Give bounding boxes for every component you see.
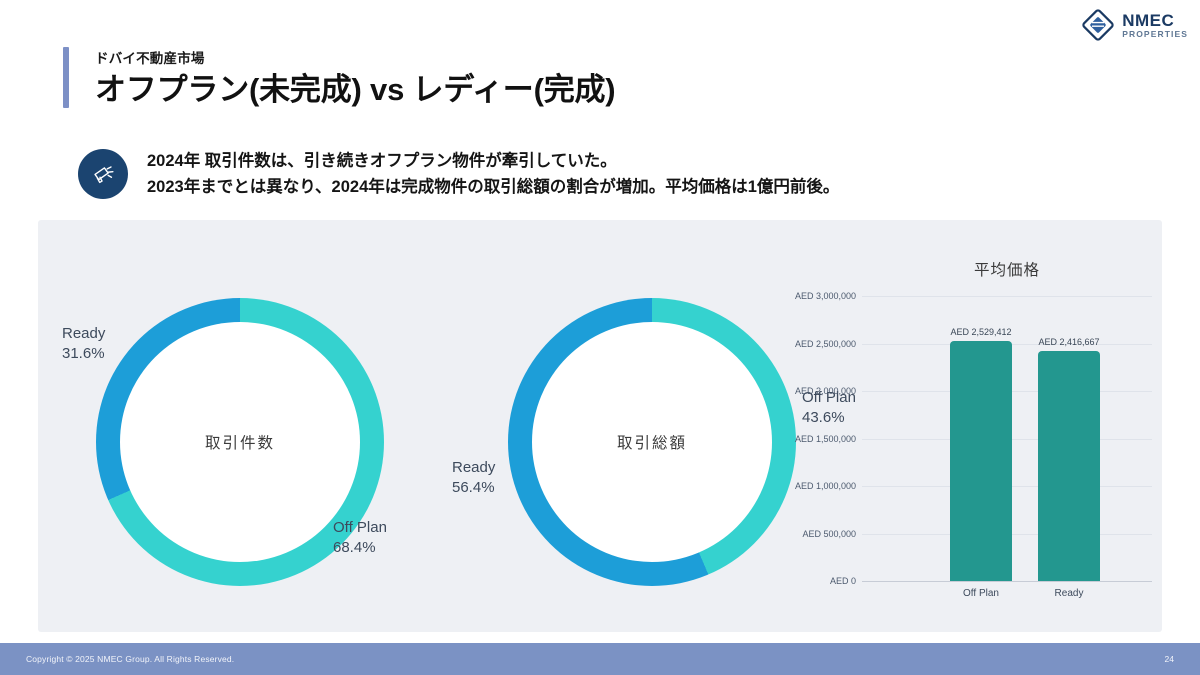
slice-name: Off Plan [333, 519, 387, 536]
header-text-group: ドバイ不動産市場 オフプラン(未完成) vs レディー(完成) [95, 47, 615, 108]
y-axis-tick-label: AED 0 [830, 576, 856, 586]
slice-value: 43.6% [802, 408, 856, 428]
y-axis-tick-label: AED 2,500,000 [795, 339, 856, 349]
donut-center: 取引件数 [120, 322, 360, 562]
donut-center-label: 取引総額 [617, 431, 687, 453]
summary-text: 2024年 取引件数は、引き続きオフプラン物件が牽引していた。 2023年までと… [147, 148, 839, 200]
page-number: 24 [1165, 654, 1174, 664]
slice-value: 31.6% [62, 344, 105, 364]
y-axis-tick-label: AED 3,000,000 [795, 291, 856, 301]
copyright-text: Copyright © 2025 NMEC Group. All Rights … [26, 654, 234, 664]
donut-center-label: 取引件数 [205, 431, 275, 453]
bar [1038, 351, 1100, 581]
x-axis-tick-label: Ready [1055, 588, 1084, 599]
logo-wordmark: NMEC PROPERTIES [1122, 12, 1188, 39]
y-axis-tick-label: AED 1,500,000 [795, 434, 856, 444]
slice-label-off-plan: Off Plan 68.4% [333, 518, 387, 557]
y-axis-tick-label: AED 2,000,000 [795, 386, 856, 396]
average-price-bar-chart: 平均価格 AED 0AED 500,000AED 1,000,000AED 1,… [862, 258, 1152, 608]
donut-ring: 取引総額 [508, 298, 796, 586]
slide-header: ドバイ不動産市場 オフプラン(未完成) vs レディー(完成) [63, 47, 615, 108]
brand-logo: NMEC PROPERTIES [1081, 8, 1188, 42]
x-axis-tick-label: Off Plan [963, 588, 999, 599]
slice-label-ready: Ready 31.6% [62, 324, 105, 363]
gridline: AED 0 [862, 581, 1152, 582]
header-kicker: ドバイ不動産市場 [95, 47, 615, 67]
slice-value: 56.4% [452, 478, 495, 498]
slice-label-ready: Ready 56.4% [452, 458, 495, 497]
logo-subtitle: PROPERTIES [1122, 30, 1188, 39]
megaphone-icon [78, 149, 128, 199]
diamond-logo-icon [1081, 8, 1115, 42]
header-accent-bar [63, 47, 69, 108]
slice-name: Ready [452, 459, 495, 476]
slice-value: 68.4% [333, 538, 387, 558]
bar-group: AED 2,416,667Ready [1038, 296, 1100, 581]
bar-series: AED 2,529,412Off PlanAED 2,416,667Ready [862, 296, 1152, 581]
summary-line-1: 2024年 取引件数は、引き続きオフプラン物件が牽引していた。 [147, 149, 839, 175]
logo-name: NMEC [1122, 12, 1188, 29]
y-axis-tick-label: AED 1,000,000 [795, 481, 856, 491]
donut-center: 取引総額 [532, 322, 772, 562]
summary-callout: 2024年 取引件数は、引き続きオフプラン物件が牽引していた。 2023年までと… [78, 148, 839, 200]
chart-title: 平均価格 [862, 258, 1152, 280]
page-title: オフプラン(未完成) vs レディー(完成) [95, 73, 615, 108]
bar-value-label: AED 2,529,412 [950, 327, 1011, 337]
slide-footer: Copyright © 2025 NMEC Group. All Rights … [0, 643, 1200, 675]
bar-value-label: AED 2,416,667 [1038, 337, 1099, 347]
summary-line-2: 2023年までとは異なり、2024年は完成物件の取引総額の割合が増加。平均価格は… [147, 175, 839, 201]
bar-group: AED 2,529,412Off Plan [950, 296, 1012, 581]
bar-plot-area: AED 0AED 500,000AED 1,000,000AED 1,500,0… [862, 296, 1152, 581]
bar [950, 341, 1012, 581]
y-axis-tick-label: AED 500,000 [802, 529, 856, 539]
slice-name: Ready [62, 325, 105, 342]
